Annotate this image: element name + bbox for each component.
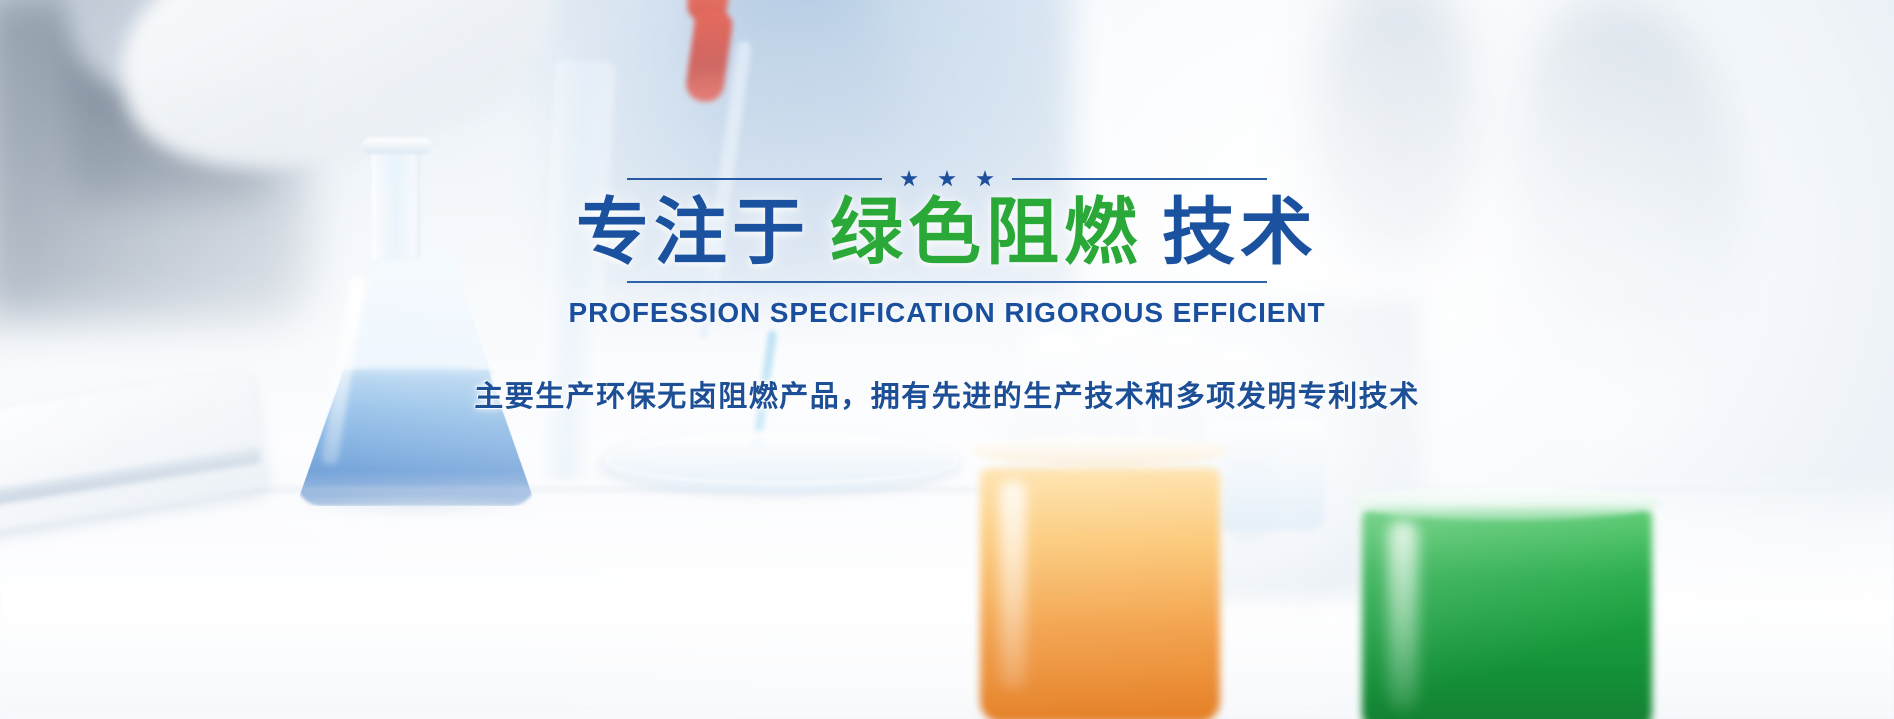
- banner-stage: 专注于绿色阻燃技术 PROFESSION SPECIFICATION RIGOR…: [0, 0, 1894, 719]
- tagline-chinese: 主要生产环保无卤阻燃产品，拥有先进的生产技术和多项发明专利技术: [474, 373, 1420, 415]
- banner-content: 专注于绿色阻燃技术 PROFESSION SPECIFICATION RIGOR…: [0, 0, 1894, 719]
- subtitle-english: PROFESSION SPECIFICATION RIGOROUS EFFICI…: [569, 297, 1326, 329]
- headline-underline: [627, 281, 1267, 283]
- divider-line-left: [627, 178, 882, 180]
- star-icon: [938, 170, 956, 188]
- divider-line-right: [1012, 178, 1267, 180]
- decorative-divider: [627, 168, 1267, 190]
- star-group: [900, 170, 994, 188]
- star-icon: [900, 170, 918, 188]
- headline-part-2: 绿色阻燃: [830, 190, 1142, 275]
- headline: 专注于绿色阻燃技术: [576, 196, 1318, 270]
- star-icon: [976, 170, 994, 188]
- headline-part-3: 技术: [1162, 190, 1318, 275]
- headline-part-1: 专注于: [576, 190, 810, 275]
